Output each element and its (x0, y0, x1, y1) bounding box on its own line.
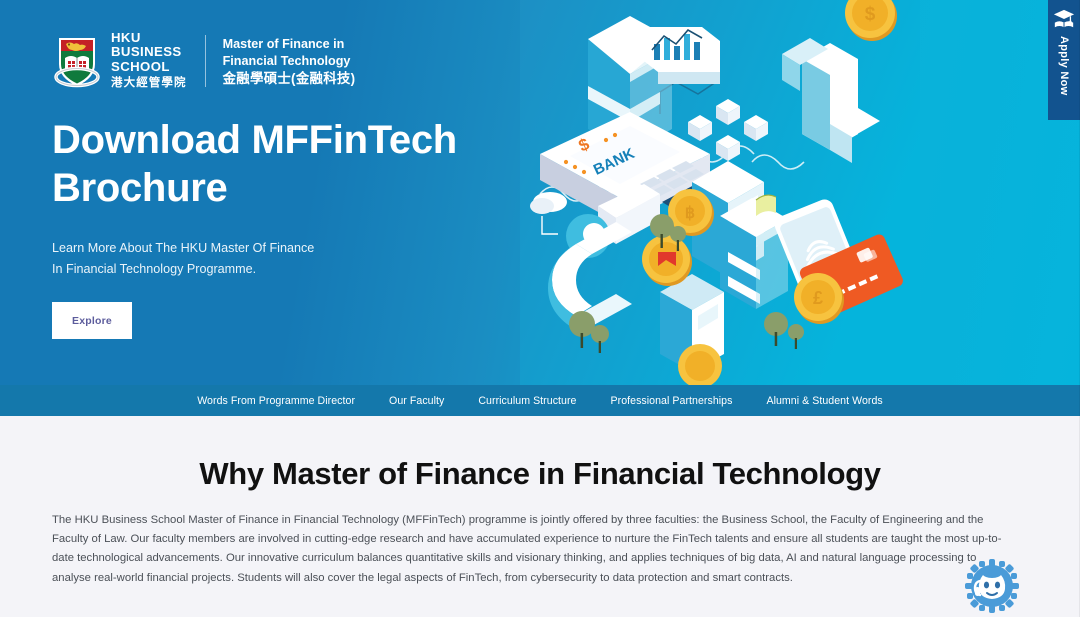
hero-subtext: Learn More About The HKU Master Of Finan… (52, 238, 472, 279)
brand-chinese: 港大經管學院 (111, 76, 187, 91)
nav-item-alumni-student-words[interactable]: Alumni & Student Words (749, 395, 899, 407)
nav-item-professional-partnerships[interactable]: Professional Partnerships (594, 395, 750, 407)
svg-text:$: $ (865, 4, 876, 25)
brand-line-2: BUSINESS (111, 45, 187, 59)
apply-now-tab[interactable]: Apply Now (1048, 0, 1080, 120)
explore-button[interactable]: Explore (52, 302, 132, 339)
brand-wordmark: HKU BUSINESS SCHOOL 港大經管學院 (111, 31, 187, 91)
brand-line-3: SCHOOL (111, 60, 187, 74)
nav-item-our-faculty[interactable]: Our Faculty (372, 395, 461, 407)
hero-illustration: BANK $ (520, 0, 920, 385)
hero-banner: BANK $ (0, 0, 1080, 385)
hero-subtext-line-2: In Financial Technology Programme. (52, 259, 472, 280)
programme-title: Master of Finance in Financial Technolog… (223, 36, 356, 87)
chatbot-launcher[interactable] (963, 557, 1021, 615)
nav-item-words-from-programme-director[interactable]: Words From Programme Director (180, 395, 372, 407)
nav-item-curriculum-structure[interactable]: Curriculum Structure (461, 395, 593, 407)
svg-text:£: £ (813, 288, 823, 308)
programme-line-2: Financial Technology (223, 53, 356, 70)
hero-heading: Download MFFinTech Brochure (52, 116, 532, 212)
brand-lockup[interactable]: HKU BUSINESS SCHOOL 港大經管學院 Master of Fin… (52, 31, 355, 91)
brand-line-1: HKU (111, 31, 187, 45)
section-body: The HKU Business School Master of Financ… (52, 511, 1018, 588)
graduation-cap-book-icon (1053, 8, 1075, 30)
svg-text:฿: ฿ (685, 205, 695, 222)
brand-divider (205, 35, 206, 87)
section-nav[interactable]: Words From Programme Director Our Facult… (0, 385, 1080, 416)
hero-subtext-line-1: Learn More About The HKU Master Of Finan… (52, 238, 472, 259)
chatbot-mascot-icon (963, 557, 1021, 615)
why-section: Why Master of Finance in Financial Techn… (0, 416, 1080, 617)
section-title: Why Master of Finance in Financial Techn… (0, 456, 1080, 492)
apply-now-label: Apply Now (1058, 36, 1070, 96)
hku-crest-icon (52, 34, 102, 88)
programme-chinese: 金融學碩士(金融科技) (223, 70, 356, 87)
programme-line-1: Master of Finance in (223, 36, 356, 53)
